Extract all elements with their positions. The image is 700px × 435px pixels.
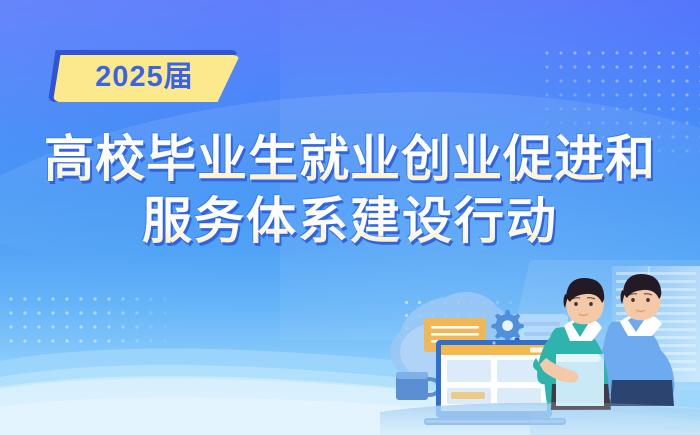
year-badge: 2025届 — [48, 50, 238, 102]
banner-root: 2025届 高校毕业生就业创业促进和 服务体系建设行动 — [0, 0, 700, 435]
title-line-1: 高校毕业生就业创业促进和 — [0, 128, 700, 190]
title-line-2: 服务体系建设行动 — [0, 190, 700, 252]
dot-grid-bottom-left-icon — [4, 292, 180, 346]
year-badge-label: 2025届 — [95, 63, 194, 92]
banner-title: 高校毕业生就业创业促进和 服务体系建设行动 — [0, 128, 700, 252]
gear-small-icon — [491, 310, 523, 342]
illustration-two-graduates-with-laptop — [380, 260, 700, 435]
year-badge-face: 2025届 — [53, 55, 240, 102]
